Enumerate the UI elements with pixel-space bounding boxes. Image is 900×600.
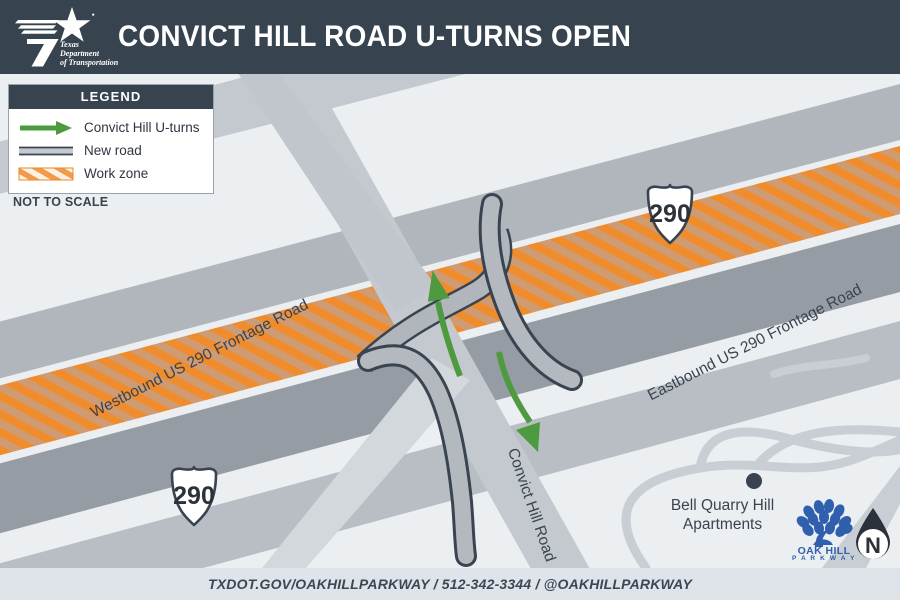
green-arrow-icon — [18, 120, 76, 136]
legend-label-uturns: Convict Hill U-turns — [84, 120, 200, 135]
not-to-scale-note: NOT TO SCALE — [13, 195, 108, 209]
north-arrow-icon: N — [847, 506, 899, 568]
double-line-road-icon — [18, 144, 76, 158]
svg-text:of Transportation: of Transportation — [60, 58, 118, 67]
svg-text:Texas: Texas — [60, 40, 79, 49]
poi-label-line1: Bell Quarry Hill — [655, 496, 790, 515]
svg-text:290: 290 — [649, 200, 691, 228]
footer-contact-text: TXDOT.GOV/OAKHILLPARKWAY / 512-342-3344 … — [208, 576, 692, 592]
legend-item-work-zone: Work zone — [9, 162, 213, 185]
legend-items: Convict Hill U-turns New road — [9, 109, 213, 193]
north-arrow-letter: N — [865, 533, 881, 558]
svg-text:290: 290 — [173, 482, 215, 510]
legend-title: LEGEND — [9, 85, 213, 109]
orange-hatch-icon — [18, 167, 76, 181]
legend-item-new-road: New road — [9, 139, 213, 162]
footer-bar: TXDOT.GOV/OAKHILLPARKWAY / 512-342-3344 … — [0, 568, 900, 600]
legend-box: LEGEND Convict Hill U-turns — [8, 84, 214, 194]
legend-label-work-zone: Work zone — [84, 166, 148, 181]
header-bar: Texas Department of Transportation CONVI… — [0, 0, 900, 74]
legend-item-uturns: Convict Hill U-turns — [9, 116, 213, 139]
poi-label-bell-quarry-hill-apartments: Bell Quarry Hill Apartments — [655, 496, 790, 534]
poi-label-line2: Apartments — [655, 515, 790, 534]
txdot-logo: Texas Department of Transportation — [0, 0, 118, 74]
oak-tree-icon — [794, 498, 854, 547]
poi-dot-bell-quarry — [746, 473, 762, 489]
svg-text:Department: Department — [59, 49, 100, 58]
graphic-root: Texas Department of Transportation CONVI… — [0, 0, 900, 600]
page-title: CONVICT HILL ROAD U-TURNS OPEN — [118, 20, 631, 54]
legend-label-new-road: New road — [84, 143, 142, 158]
